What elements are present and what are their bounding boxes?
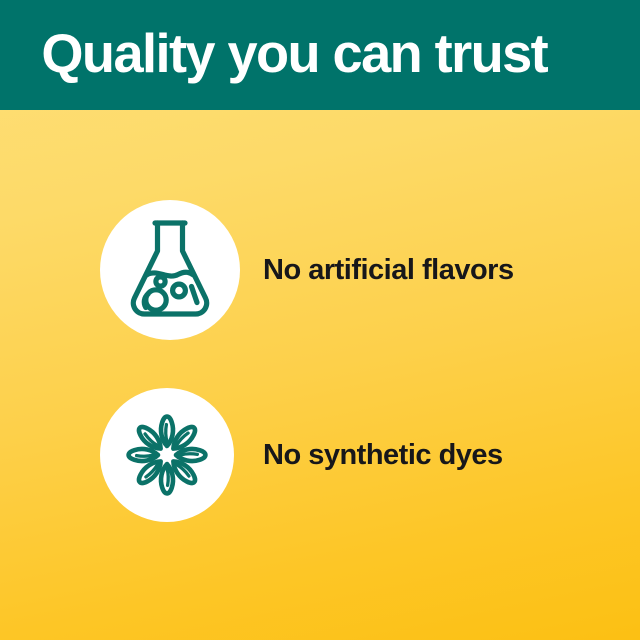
page-title: Quality you can trust (0, 26, 547, 81)
benefit-label: No synthetic dyes (263, 441, 503, 470)
dye-splatter-icon (117, 405, 217, 505)
quality-promo-card: Quality you can trust (0, 0, 640, 640)
icon-badge (100, 200, 240, 340)
icon-badge (100, 388, 234, 522)
flask-icon (124, 218, 216, 322)
header-band: Quality you can trust (0, 0, 640, 110)
benefit-label: No artificial flavors (263, 256, 514, 285)
benefit-item-flavors: No artificial flavors (100, 200, 514, 340)
benefit-item-dyes: No synthetic dyes (100, 388, 503, 522)
